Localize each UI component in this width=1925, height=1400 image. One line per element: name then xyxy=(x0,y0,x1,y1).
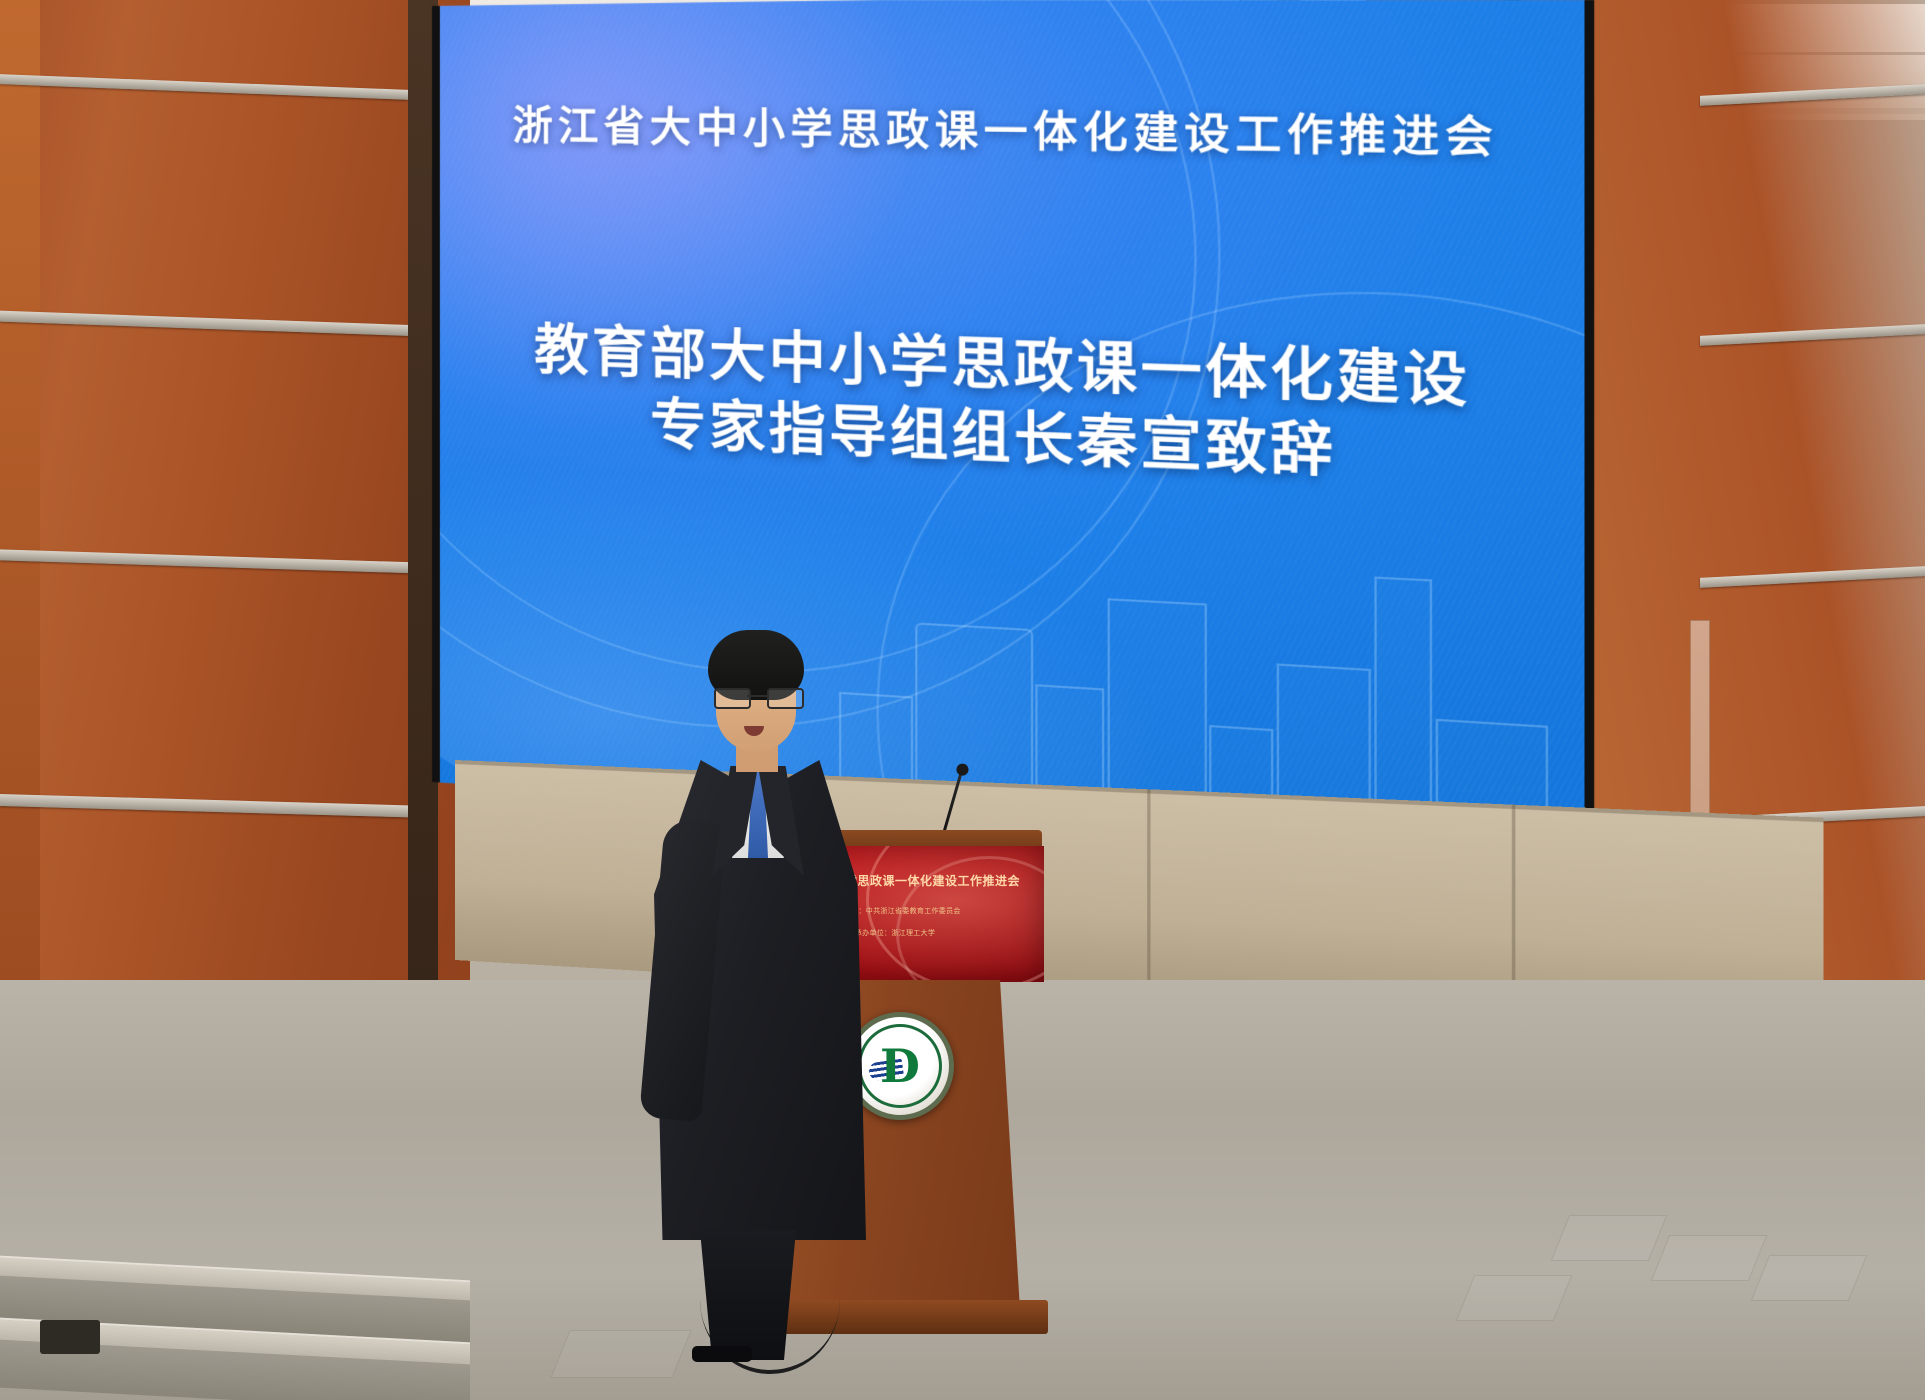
led-screen-surface: 浙江省大中小学思政课一体化建设工作推进会 教育部大中小学思政课一体化建设 专家指… xyxy=(440,0,1585,868)
floor-tile xyxy=(1456,1275,1573,1321)
floor-tile xyxy=(1751,1255,1868,1301)
base-seam xyxy=(1147,789,1150,1001)
emblem-letter: D xyxy=(880,1039,920,1093)
speaker-legs xyxy=(688,1230,808,1360)
floor-tile xyxy=(1651,1235,1768,1281)
speaker xyxy=(648,630,878,1350)
glasses-icon xyxy=(714,688,800,705)
conference-photo: 浙江省大中小学思政课一体化建设工作推进会 教育部大中小学思政课一体化建设 专家指… xyxy=(0,0,1925,1400)
floor-socket xyxy=(40,1320,100,1354)
speaker-shoe xyxy=(692,1346,752,1362)
glasses-bridge xyxy=(747,695,767,697)
glasses-lens xyxy=(714,688,751,709)
floor-tile xyxy=(1551,1215,1668,1261)
glasses-lens xyxy=(767,688,804,709)
led-screen: 浙江省大中小学思政课一体化建设工作推进会 教育部大中小学思政课一体化建设 专家指… xyxy=(432,0,1594,877)
